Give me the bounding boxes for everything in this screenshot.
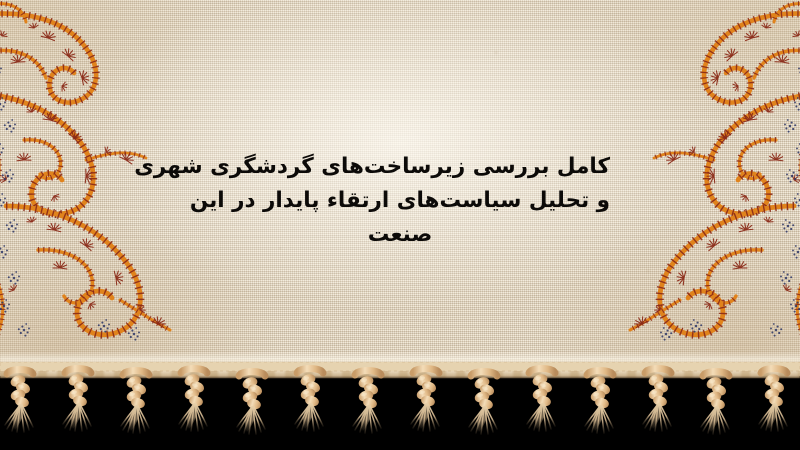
banner-title: کامل بررسی زیرساخت‌های گردشگری شهری و تح…: [190, 150, 610, 252]
title-line-2: و تحلیل سیاست‌های ارتقاء پایدار در این: [190, 184, 610, 218]
fabric-hem-weave: [0, 366, 800, 378]
banner-canvas: کامل بررسی زیرساخت‌های گردشگری شهری و تح…: [0, 0, 800, 450]
black-backdrop: [0, 370, 800, 450]
title-line-1: کامل بررسی زیرساخت‌های گردشگری شهری: [190, 150, 610, 184]
title-line-3: صنعت: [190, 218, 610, 252]
